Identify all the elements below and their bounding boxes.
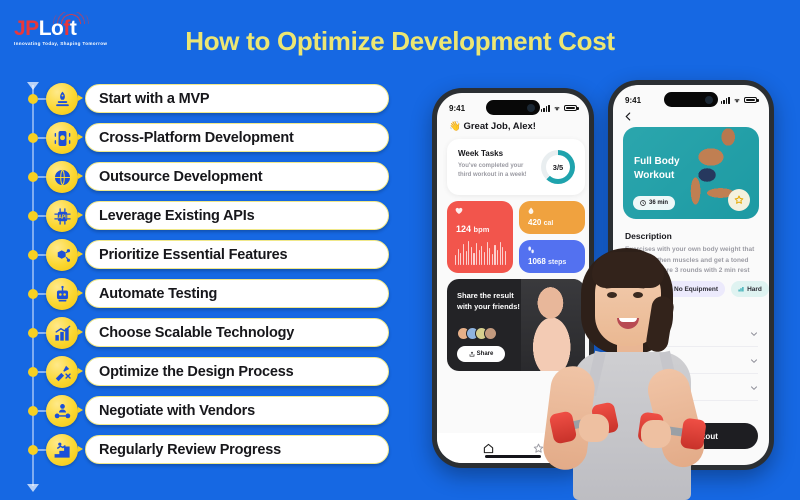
battery-icon: [564, 105, 577, 112]
flame-icon: [527, 207, 535, 215]
step-arrow-icon: [78, 134, 83, 140]
progress-stairs-icon: [46, 434, 78, 466]
metric-card-bpm[interactable]: 124 bpm: [447, 201, 513, 273]
bpm-unit: bpm: [474, 225, 490, 234]
step-label: Regularly Review Progress: [99, 442, 281, 458]
step-label: Negotiate with Vendors: [99, 403, 255, 419]
infographic-canvas: JPLoft Innovating Today, Shaping Tomorro…: [0, 0, 800, 500]
status-icons-right: [721, 97, 757, 104]
step-row[interactable]: Start with a MVP: [0, 82, 420, 115]
step-label: Cross-Platform Development: [99, 130, 294, 146]
step-row[interactable]: Optimize the Design Process: [0, 355, 420, 388]
bpm-number: 124: [456, 224, 471, 234]
eye-right: [633, 292, 643, 298]
share-button-label: Share: [477, 351, 494, 357]
step-label: Optimize the Design Process: [99, 364, 293, 380]
signal-icon: [541, 105, 550, 112]
footsteps-icon: [527, 246, 535, 254]
timeline-node: [28, 367, 38, 377]
scalable-growth-icon: [46, 317, 78, 349]
logo-jp: JP: [14, 17, 39, 40]
step-arrow-icon: [78, 173, 83, 179]
priority-box-icon: [46, 239, 78, 271]
steps-number: 1068: [528, 257, 546, 266]
star-icon: [734, 195, 744, 205]
step-row[interactable]: APILeverage Existing APIs: [0, 199, 420, 232]
week-tasks-subtitle: You've completed your third workout in a…: [458, 162, 536, 180]
status-time-left: 9:41: [449, 104, 465, 113]
step-pill[interactable]: Optimize the Design Process: [85, 357, 389, 386]
greeting-text: 👋 Great Job, Alex!: [449, 121, 536, 132]
step-row[interactable]: Regularly Review Progress: [0, 433, 420, 466]
dynamic-island-right: [664, 92, 718, 107]
design-tools-icon: [46, 356, 78, 388]
step-pill[interactable]: Automate Testing: [85, 279, 389, 308]
automation-robot-icon: [46, 278, 78, 310]
step-pill[interactable]: Choose Scalable Technology: [85, 318, 389, 347]
progress-ring: 3/5: [541, 150, 575, 184]
step-label: Choose Scalable Technology: [99, 325, 294, 341]
timeline-node: [28, 94, 38, 104]
step-arrow-icon: [78, 407, 83, 413]
step-label: Start with a MVP: [99, 91, 209, 107]
star-icon[interactable]: [533, 443, 544, 454]
battery-icon: [744, 97, 757, 104]
favorite-button[interactable]: [728, 189, 750, 211]
heart-icon: [455, 207, 463, 215]
step-label: Outsource Development: [99, 169, 262, 185]
step-pill[interactable]: Outsource Development: [85, 162, 389, 191]
timeline-node: [28, 172, 38, 182]
cal-number: 420: [528, 218, 541, 227]
week-tasks-title: Week Tasks: [458, 149, 503, 158]
step-pill[interactable]: Negotiate with Vendors: [85, 396, 389, 425]
metric-bpm-value: 124 bpm: [456, 224, 489, 234]
timeline-node: [28, 328, 38, 338]
cal-unit: cal: [544, 220, 554, 227]
handshake-vendor-icon: [46, 395, 78, 427]
share-icon: [469, 351, 475, 357]
eye-left: [607, 292, 617, 298]
step-arrow-icon: [78, 251, 83, 257]
step-row[interactable]: Outsource Development: [0, 160, 420, 193]
timeline-node: [28, 445, 38, 455]
api-chip-icon: API: [46, 200, 78, 232]
steps-timeline: Start with a MVPCross-Platform Developme…: [0, 82, 420, 492]
step-arrow-icon: [78, 212, 83, 218]
home-icon[interactable]: [483, 443, 494, 454]
brand-logo[interactable]: JPLoft Innovating Today, Shaping Tomorro…: [12, 10, 112, 54]
timeline-node: [28, 289, 38, 299]
step-label: Automate Testing: [99, 286, 217, 302]
clock-icon: [640, 200, 646, 206]
wifi-icon: [553, 105, 561, 112]
step-row[interactable]: Cross-Platform Development: [0, 121, 420, 154]
hand-left: [579, 414, 609, 442]
svg-text:API: API: [58, 214, 67, 220]
mvp-rocket-icon: [46, 83, 78, 115]
step-arrow-icon: [78, 368, 83, 374]
metric-cal-value: 420 cal: [528, 218, 553, 227]
step-arrow-icon: [78, 290, 83, 296]
step-pill[interactable]: Leverage Existing APIs: [85, 201, 389, 230]
back-chevron-icon[interactable]: [624, 112, 633, 121]
timeline-node: [28, 250, 38, 260]
step-row[interactable]: Prioritize Essential Features: [0, 238, 420, 271]
timeline-arrow-bottom-icon: [27, 484, 39, 492]
step-arrow-icon: [78, 95, 83, 101]
step-pill[interactable]: Start with a MVP: [85, 84, 389, 113]
wifi-icon: [733, 97, 741, 104]
status-time-right: 9:41: [625, 96, 641, 105]
step-row[interactable]: Automate Testing: [0, 277, 420, 310]
week-tasks-card[interactable]: Week Tasks You've completed your third w…: [447, 139, 585, 195]
logo-wordmark: JPLoft: [14, 18, 76, 39]
step-row[interactable]: Choose Scalable Technology: [0, 316, 420, 349]
share-button[interactable]: Share: [457, 346, 505, 362]
dynamic-island-left: [486, 100, 540, 115]
workout-duration-badge: 36 min: [633, 196, 675, 210]
step-pill[interactable]: Prioritize Essential Features: [85, 240, 389, 269]
signal-icon: [721, 97, 730, 104]
step-pill[interactable]: Cross-Platform Development: [85, 123, 389, 152]
avatar: [484, 327, 497, 340]
timeline-node: [28, 211, 38, 221]
metric-card-calories[interactable]: 420 cal: [519, 201, 585, 234]
step-row[interactable]: Negotiate with Vendors: [0, 394, 420, 427]
step-arrow-icon: [78, 446, 83, 452]
workout-title: Full Body Workout: [634, 155, 696, 182]
friend-avatars: [457, 327, 497, 340]
globe-team-icon: [46, 161, 78, 193]
logo-t: t: [70, 17, 77, 40]
home-indicator: [485, 455, 541, 458]
description-heading: Description: [625, 231, 672, 241]
logo-lo: Lo: [39, 17, 64, 40]
progress-value: 3/5: [541, 150, 575, 184]
workout-hero-card[interactable]: Full Body Workout 36 min: [623, 127, 759, 219]
step-label: Prioritize Essential Features: [99, 247, 287, 263]
step-label: Leverage Existing APIs: [99, 208, 254, 224]
fitness-model-photo: [545, 248, 755, 500]
hair-fringe: [592, 252, 664, 288]
status-icons-left: [541, 105, 577, 112]
timeline-node: [28, 406, 38, 416]
share-text: Share the result with your friends!: [457, 291, 523, 313]
mobile-devices-icon: [46, 122, 78, 154]
phone-mockups: 9:41 👋 Great Job, Alex! Week Tasks You'v…: [420, 0, 800, 500]
hand-right: [641, 420, 671, 448]
logo-tagline: Innovating Today, Shaping Tomorrow: [14, 41, 107, 46]
heartrate-sparkline: [455, 239, 506, 265]
step-pill[interactable]: Regularly Review Progress: [85, 435, 389, 464]
timeline-node: [28, 133, 38, 143]
step-arrow-icon: [78, 329, 83, 335]
duration-label: 36 min: [649, 200, 668, 206]
